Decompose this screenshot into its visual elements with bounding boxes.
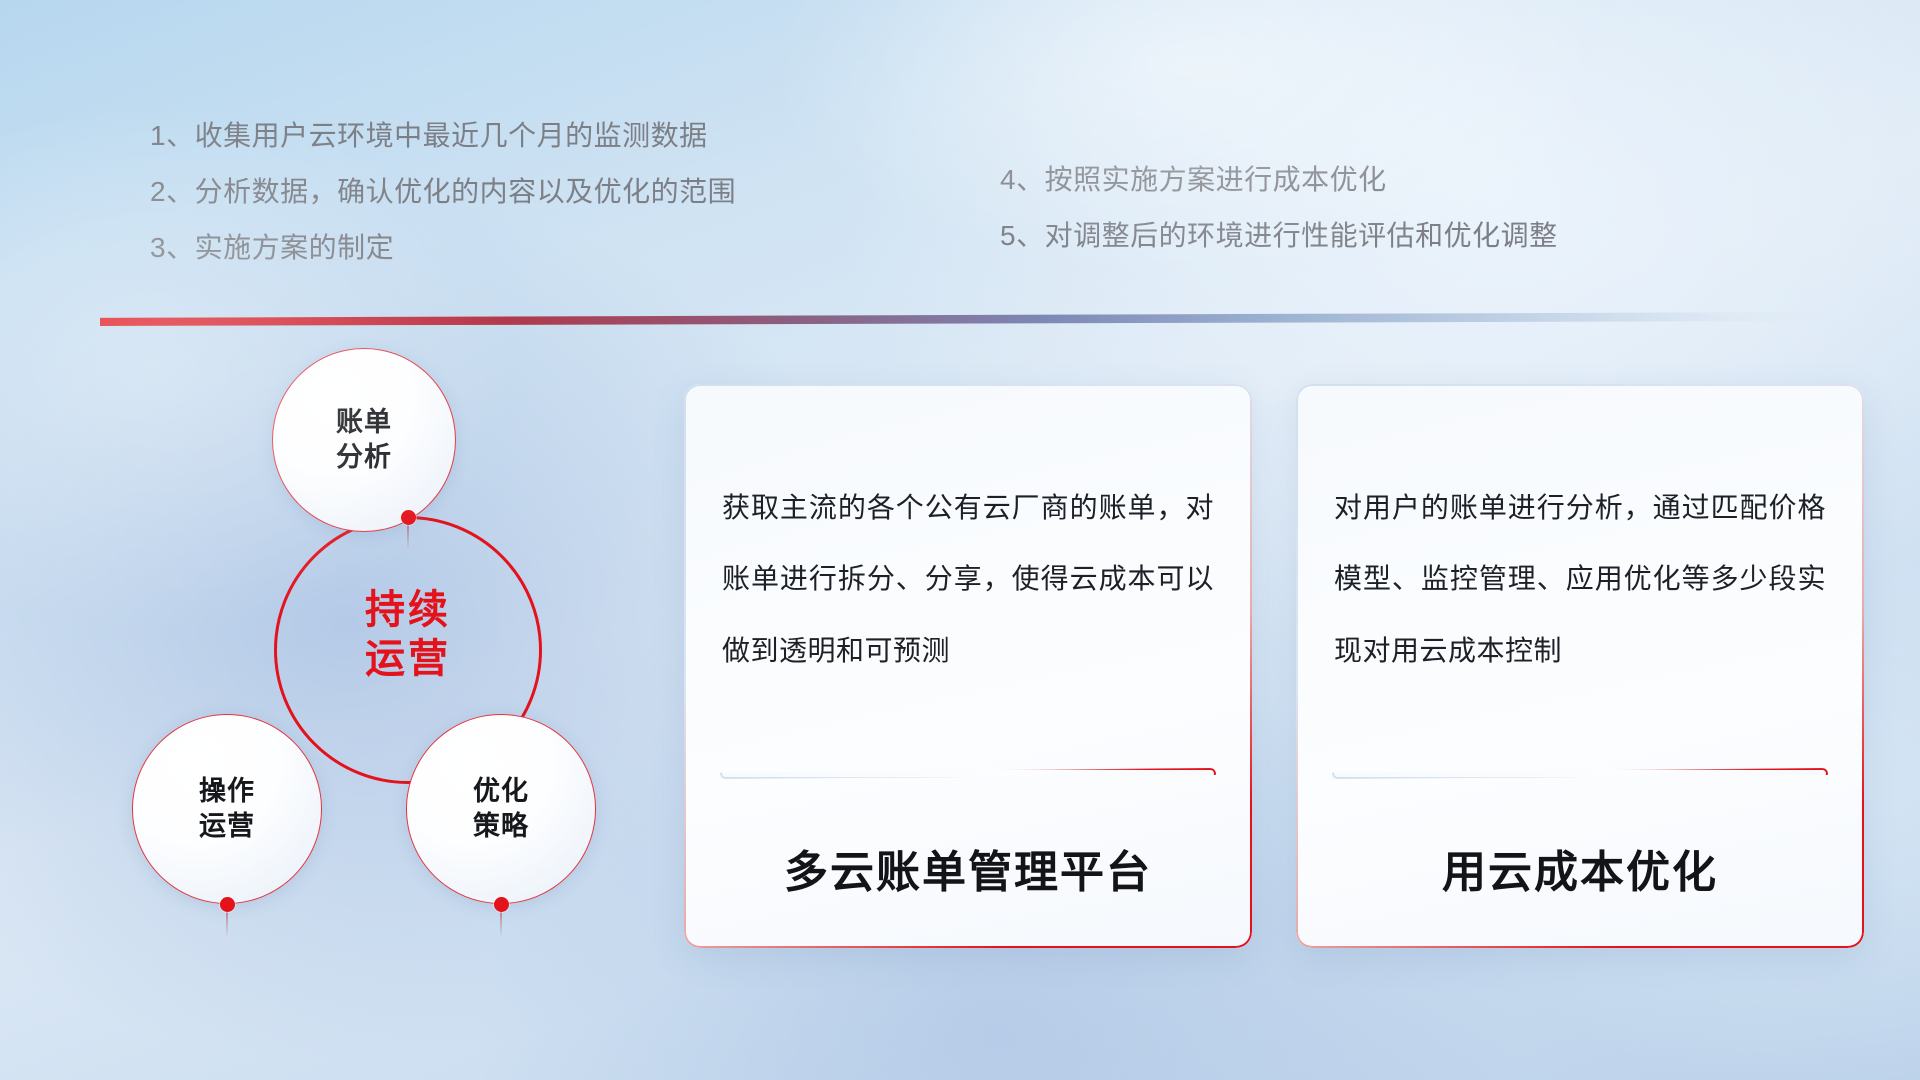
step-item-2: 2、分析数据，确认优化的内容以及优化的范围 — [150, 164, 736, 220]
bubble-label-line-1: 优化 — [473, 774, 529, 809]
section-divider — [100, 312, 1840, 326]
card-title: 用云成本优化 — [1334, 836, 1826, 900]
step-item-4: 4、按照实施方案进行成本优化 — [1000, 152, 1558, 208]
feature-card-multicloud-billing[interactable]: 获取主流的各个公有云厂商的账单，对账单进行拆分、分享，使得云成本可以做到透明和可… — [684, 384, 1252, 948]
venn-center-line-1: 持续 — [274, 586, 542, 635]
venn-center-label: 持续 运营 — [274, 586, 542, 684]
card-description: 对用户的账单进行分析，通过匹配价格模型、监控管理、应用优化等多少段实现对用云成本… — [1334, 472, 1826, 686]
venn-center-line-2: 运营 — [274, 635, 542, 684]
card-description: 获取主流的各个公有云厂商的账单，对账单进行拆分、分享，使得云成本可以做到透明和可… — [722, 472, 1214, 686]
feature-card-cloud-cost-optimization[interactable]: 对用户的账单进行分析，通过匹配价格模型、监控管理、应用优化等多少段实现对用云成本… — [1296, 384, 1864, 948]
node-dot-bottom-left-icon — [220, 897, 235, 912]
card-divider — [720, 768, 1216, 779]
venn-diagram: 持续 运营 账单 分析 操作 运营 优化 策略 — [96, 348, 656, 956]
step-item-5: 5、对调整后的环境进行性能评估和优化调整 — [1000, 208, 1558, 264]
venn-bubble-billing-analysis[interactable]: 账单 分析 — [272, 348, 456, 532]
card-title: 多云账单管理平台 — [722, 836, 1214, 900]
bubble-label-line-2: 运营 — [199, 809, 255, 844]
bubble-label-line-2: 分析 — [336, 440, 392, 475]
connector-tail-bottom-right-icon — [500, 911, 502, 937]
step-item-3: 3、实施方案的制定 — [150, 220, 736, 276]
card-divider — [1332, 768, 1828, 779]
steps-list-right: 4、按照实施方案进行成本优化 5、对调整后的环境进行性能评估和优化调整 — [1000, 152, 1558, 264]
bubble-label-line-2: 策略 — [473, 809, 529, 844]
step-item-1: 1、收集用户云环境中最近几个月的监测数据 — [150, 108, 736, 164]
node-dot-bottom-right-icon — [494, 897, 509, 912]
node-dot-top-icon — [401, 510, 416, 525]
connector-tail-bottom-left-icon — [226, 911, 228, 937]
venn-bubble-operations[interactable]: 操作 运营 — [132, 714, 322, 904]
bubble-label-line-1: 账单 — [336, 405, 392, 440]
bubble-label-line-1: 操作 — [199, 774, 255, 809]
slide-canvas: 1、收集用户云环境中最近几个月的监测数据 2、分析数据，确认优化的内容以及优化的… — [0, 0, 1920, 1080]
connector-tail-top-icon — [407, 524, 409, 550]
steps-list-left: 1、收集用户云环境中最近几个月的监测数据 2、分析数据，确认优化的内容以及优化的… — [150, 108, 736, 276]
venn-bubble-optimization-strategy[interactable]: 优化 策略 — [406, 714, 596, 904]
